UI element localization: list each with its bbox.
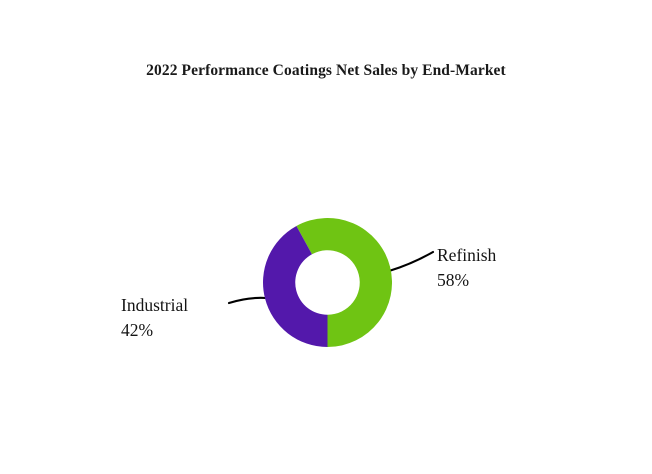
data-label-refinish: Refinish 58% [437, 243, 496, 293]
donut-svg [263, 218, 392, 347]
leader-line-refinish [389, 252, 433, 271]
donut-chart [263, 218, 392, 347]
chart-title: 2022 Performance Coatings Net Sales by E… [106, 58, 546, 83]
data-label-refinish-name: Refinish [437, 243, 496, 268]
data-label-industrial-name: Industrial [121, 293, 188, 318]
data-label-industrial-value: 42% [121, 318, 188, 343]
chart-canvas: 2022 Performance Coatings Net Sales by E… [0, 0, 652, 474]
leader-line-industrial [229, 298, 266, 303]
data-label-refinish-value: 58% [437, 268, 496, 293]
data-label-industrial: Industrial 42% [121, 293, 188, 343]
